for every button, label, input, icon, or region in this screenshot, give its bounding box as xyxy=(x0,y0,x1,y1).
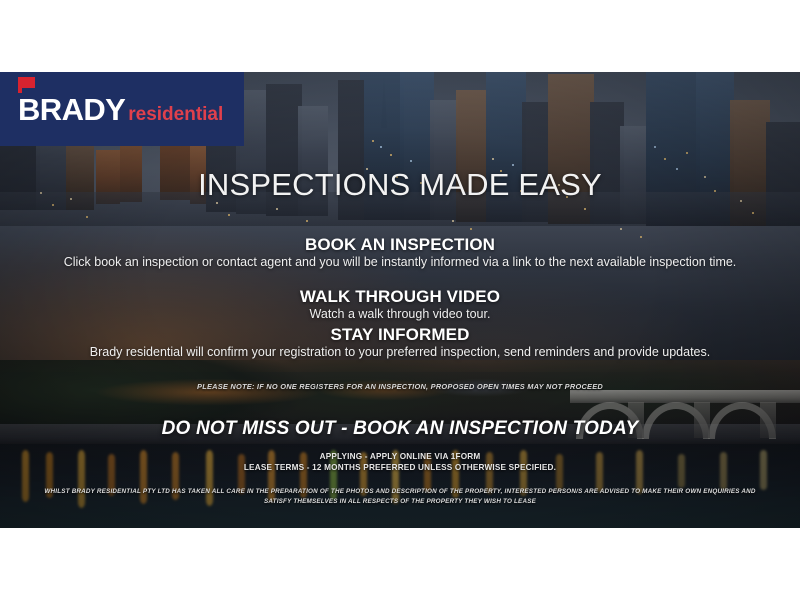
call-to-action-text: DO NOT MISS OUT - BOOK AN INSPECTION TOD… xyxy=(0,418,800,440)
section-body-walk-through-video: Watch a walk through video tour. xyxy=(0,306,800,323)
applying-terms-line: APPLYING - APPLY ONLINE VIA 1FORM xyxy=(0,452,800,461)
page-title: INSPECTIONS MADE EASY xyxy=(0,167,800,203)
please-note-text: PLEASE NOTE: IF NO ONE REGISTERS FOR AN … xyxy=(0,382,800,391)
inspection-banner-image: BRADY residential INSPECTIONS MADE EASY … xyxy=(0,72,800,528)
section-title-stay-informed: STAY INFORMED xyxy=(0,325,800,345)
legal-disclaimer-text: WHILST BRADY RESIDENTIAL PTY LTD HAS TAK… xyxy=(30,487,770,507)
section-body-stay-informed: Brady residential will confirm your regi… xyxy=(0,344,800,361)
section-body-book-an-inspection: Click book an inspection or contact agen… xyxy=(0,254,800,271)
lease-terms-line: LEASE TERMS - 12 MONTHS PREFERRED UNLESS… xyxy=(0,463,800,472)
banner-copy: INSPECTIONS MADE EASY BOOK AN INSPECTION… xyxy=(0,72,800,528)
page-canvas: BRADY residential INSPECTIONS MADE EASY … xyxy=(0,0,800,600)
section-title-book-an-inspection: BOOK AN INSPECTION xyxy=(0,235,800,255)
section-title-walk-through-video: WALK THROUGH VIDEO xyxy=(0,287,800,307)
